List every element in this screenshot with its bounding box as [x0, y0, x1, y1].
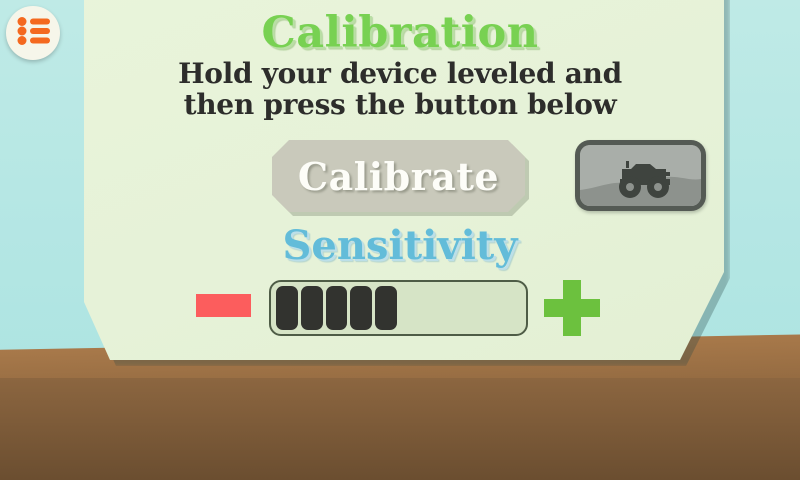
page-title: Calibration — [0, 8, 800, 58]
vehicle-preview-button[interactable] — [575, 140, 706, 211]
calibrate-button-label: Calibrate — [298, 154, 499, 199]
game-screen: Calibration Hold your device leveled and… — [0, 0, 800, 480]
monster-truck-icon — [580, 145, 701, 206]
instructions-line-2: then press the button below — [0, 89, 800, 120]
sensitivity-segment[interactable] — [301, 286, 323, 330]
plus-icon-horizontal — [544, 299, 600, 317]
sensitivity-decrease-button[interactable] — [196, 294, 251, 317]
sensitivity-segment[interactable] — [276, 286, 298, 330]
sensitivity-segment[interactable] — [375, 286, 397, 330]
sensitivity-segment[interactable] — [350, 286, 372, 330]
calibrate-button[interactable]: Calibrate — [272, 140, 525, 212]
sensitivity-increase-button[interactable] — [544, 280, 600, 336]
sensitivity-segment[interactable] — [499, 286, 521, 330]
sensitivity-level-bar[interactable] — [269, 280, 528, 336]
instructions-text: Hold your device leveled and then press … — [0, 58, 800, 120]
sensitivity-segment[interactable] — [450, 286, 472, 330]
instructions-line-1: Hold your device leveled and — [178, 57, 622, 90]
ground-lower-fill — [0, 378, 800, 480]
sensitivity-segment[interactable] — [425, 286, 447, 330]
sensitivity-segment[interactable] — [326, 286, 348, 330]
sensitivity-segment[interactable] — [400, 286, 422, 330]
list-icon — [16, 17, 50, 49]
sensitivity-title: Sensitivity — [0, 222, 800, 269]
vehicle-preview-scene — [580, 145, 701, 206]
sensitivity-segment[interactable] — [474, 286, 496, 330]
menu-button[interactable] — [6, 6, 60, 60]
